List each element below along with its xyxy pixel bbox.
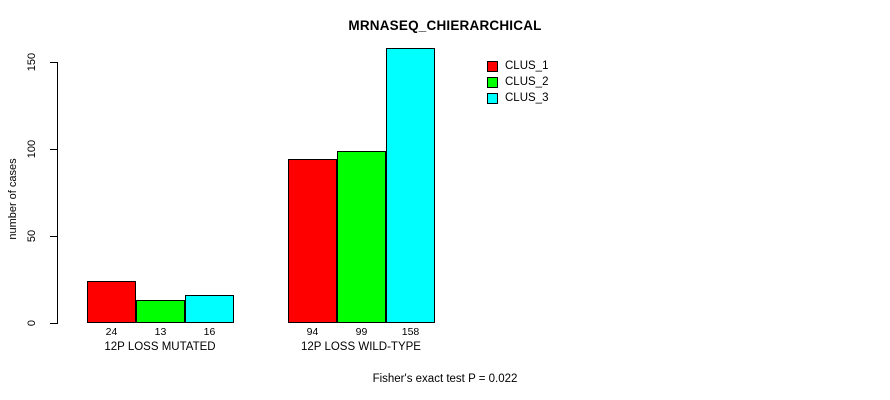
legend-label-clus-1: CLUS_1 xyxy=(505,60,548,72)
y-tick-label-100: 100 xyxy=(26,131,38,167)
y-tick-label-150: 150 xyxy=(26,44,38,80)
bar-value-group1-clus1: 24 xyxy=(87,326,136,338)
plot-area: 0 50 100 150 number of cases 24 13 16 12… xyxy=(0,0,890,400)
bar-value-group2-clus3: 158 xyxy=(386,326,435,338)
legend-item-clus-2: CLUS_2 xyxy=(487,74,548,90)
bar-group1-clus2 xyxy=(136,300,185,323)
bar-group1-clus1 xyxy=(87,281,136,323)
bar-value-group2-clus2: 99 xyxy=(337,326,386,338)
y-tick-0 xyxy=(50,323,57,324)
legend-swatch-icon-clus-2 xyxy=(487,77,498,88)
y-axis-line xyxy=(57,62,58,324)
legend-item-clus-3: CLUS_3 xyxy=(487,90,548,106)
legend-label-clus-2: CLUS_2 xyxy=(505,76,548,88)
bar-value-group1-clus3: 16 xyxy=(185,326,234,338)
y-tick-label-50: 50 xyxy=(26,221,38,251)
bar-group1-clus3 xyxy=(185,295,234,323)
bar-group2-clus2 xyxy=(337,151,386,323)
bar-group2-clus3 xyxy=(386,48,435,323)
group-label-12p-loss-wild-type: 12P LOSS WILD-TYPE xyxy=(261,341,461,353)
legend-label-clus-3: CLUS_3 xyxy=(505,92,548,104)
bar-value-group2-clus1: 94 xyxy=(288,326,337,338)
y-tick-100 xyxy=(50,149,57,150)
y-axis-title: number of cases xyxy=(7,144,19,254)
y-tick-label-0: 0 xyxy=(26,308,38,338)
legend-item-clus-1: CLUS_1 xyxy=(487,58,548,74)
legend-swatch-icon-clus-1 xyxy=(487,61,498,72)
y-tick-150 xyxy=(50,62,57,63)
bar-value-group1-clus2: 13 xyxy=(136,326,185,338)
group-label-12p-loss-mutated: 12P LOSS MUTATED xyxy=(60,341,260,353)
legend-swatch-icon-clus-3 xyxy=(487,93,498,104)
y-tick-50 xyxy=(50,236,57,237)
statistical-annotation: Fisher's exact test P = 0.022 xyxy=(0,373,890,385)
bar-group2-clus1 xyxy=(288,159,337,323)
chart-page: MRNASEQ_CHIERARCHICAL 0 50 100 150 numbe… xyxy=(0,0,890,400)
legend: CLUS_1 CLUS_2 CLUS_3 xyxy=(487,58,548,106)
